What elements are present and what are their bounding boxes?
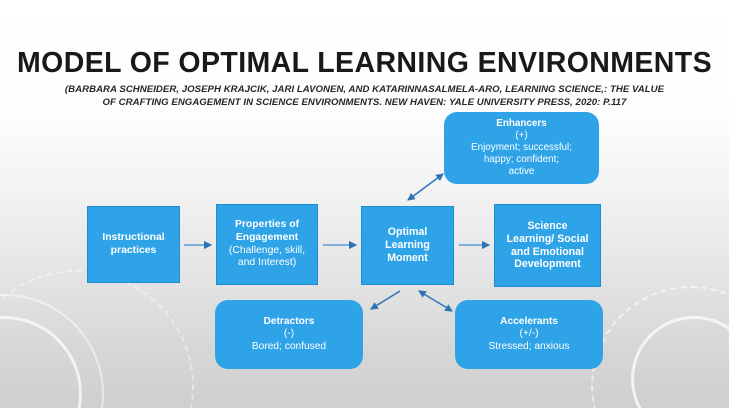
node-enhancers-sign: (+) <box>449 130 594 142</box>
connector-optimal-to-detractors <box>371 291 400 309</box>
connector-optimal-to-enhancers <box>408 174 443 200</box>
decorative-ring-bottom-right-solid <box>631 316 729 408</box>
node-accelerants[interactable]: Accelerants (+/-) Stressed; anxious <box>455 300 603 369</box>
node-optimal-learning-moment[interactable]: Optimal Learning Moment <box>361 206 454 285</box>
node-detractors-detail-1: Bored; confused <box>220 341 358 353</box>
node-properties-line-1: Properties of <box>222 219 312 232</box>
decorative-ring-bottom-left-dashed <box>0 270 194 408</box>
node-properties-detail-2: and Interest) <box>222 257 312 270</box>
node-detractors-heading: Detractors <box>220 316 358 328</box>
node-accelerants-sign: (+/-) <box>460 328 598 340</box>
node-properties-of-engagement[interactable]: Properties of Engagement (Challenge, ski… <box>216 204 318 285</box>
node-accelerants-detail-1: Stressed; anxious <box>460 341 598 353</box>
node-science-line-4: Development <box>500 258 595 271</box>
node-enhancers-detail-3: active <box>449 166 594 178</box>
node-enhancers-detail-1: Enjoyment; successful; <box>449 142 594 154</box>
node-enhancers-detail-2: happy; confident; <box>449 154 594 166</box>
node-enhancers[interactable]: Enhancers (+) Enjoyment; successful; hap… <box>444 112 599 184</box>
page-subtitle: (BARBARA SCHNEIDER, JOSEPH KRAJCIK, JARI… <box>57 84 672 110</box>
decorative-ring-bottom-right-dashed <box>591 286 729 408</box>
node-accelerants-heading: Accelerants <box>460 316 598 328</box>
title-block: MODEL OF OPTIMAL LEARNING ENVIRONMENTS (… <box>0 48 729 110</box>
page-title: MODEL OF OPTIMAL LEARNING ENVIRONMENTS <box>0 48 729 78</box>
node-optimal-line-2: Learning <box>367 239 448 252</box>
node-detractors-sign: (-) <box>220 328 358 340</box>
node-science-line-2: Learning/ Social <box>500 233 595 246</box>
node-optimal-line-3: Moment <box>367 252 448 265</box>
node-instructional-practices[interactable]: Instructional practices <box>87 206 180 283</box>
node-enhancers-heading: Enhancers <box>449 118 594 130</box>
connector-optimal-to-accelerants <box>419 291 452 311</box>
node-science-line-3: and Emotional <box>500 246 595 259</box>
node-science-learning-social-emotional-development[interactable]: Science Learning/ Social and Emotional D… <box>494 204 601 287</box>
node-optimal-line-1: Optimal <box>367 226 448 239</box>
node-detractors[interactable]: Detractors (-) Bored; confused <box>215 300 363 369</box>
page-subtitle-line-2: ENGAGEMENT IN SCIENCE ENVIRONMENTS. NEW … <box>171 97 626 108</box>
decorative-ring-bottom-left-inner <box>0 316 82 408</box>
slide-canvas: MODEL OF OPTIMAL LEARNING ENVIRONMENTS (… <box>0 0 729 408</box>
node-properties-line-2: Engagement <box>222 232 312 245</box>
node-instructional-line-2: practices <box>93 245 174 258</box>
node-instructional-line-1: Instructional <box>93 232 174 245</box>
node-science-line-1: Science <box>500 220 595 233</box>
node-properties-detail-1: (Challenge, skill, <box>222 245 312 258</box>
decorative-ring-bottom-left-outer <box>0 294 104 408</box>
